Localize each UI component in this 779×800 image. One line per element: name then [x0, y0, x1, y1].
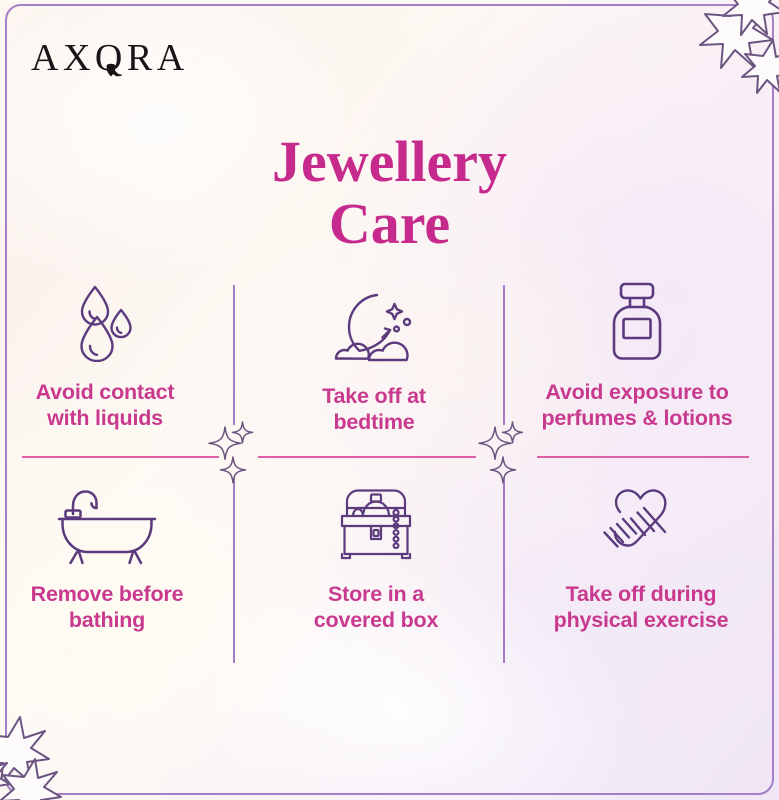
title-line-1: Jewellery [272, 129, 507, 194]
care-tips-grid: Avoid contact with liquids Take off at b… [0, 272, 779, 692]
logo-q-with-gem: Q [95, 36, 127, 80]
care-tip-label: Take off at bedtime [322, 383, 426, 435]
care-tip-label: Avoid exposure to perfumes & lotions [541, 379, 732, 431]
perfume-bottle-icon [606, 282, 668, 362]
care-tip-label: Store in a covered box [314, 581, 438, 633]
logo-text-after: RA [127, 36, 189, 80]
moon-stars-icon [328, 286, 420, 366]
care-tip-bathing: Remove before bathing [0, 484, 236, 633]
title-line-2: Care [0, 193, 779, 256]
brand-logo: AX Q RA [31, 36, 189, 80]
water-drops-icon [69, 282, 141, 362]
care-tip-label: Take off during physical exercise [554, 581, 729, 633]
care-tip-avoid-liquids: Avoid contact with liquids [0, 282, 234, 431]
five-point-stars-icon-bottom-left [0, 689, 96, 800]
diamond-icon [105, 43, 116, 87]
care-tip-bedtime: Take off at bedtime [245, 286, 503, 435]
jewelry-box-icon [330, 484, 422, 564]
jewellery-care-poster: AX Q RA Jewellery Care [0, 0, 779, 800]
care-tip-label: Remove before bathing [31, 581, 184, 633]
page-title: Jewellery Care [0, 131, 779, 256]
logo-text-before: AX [31, 36, 95, 80]
five-point-stars-icon-top-right [685, 0, 779, 115]
heart-dumbbell-icon [593, 484, 689, 564]
bathtub-icon [55, 484, 159, 564]
care-tip-perfumes: Avoid exposure to perfumes & lotions [508, 282, 766, 431]
care-tip-label: Avoid contact with liquids [36, 379, 175, 431]
care-tip-exercise: Take off during physical exercise [512, 484, 770, 633]
care-tip-covered-box: Store in a covered box [247, 484, 505, 633]
